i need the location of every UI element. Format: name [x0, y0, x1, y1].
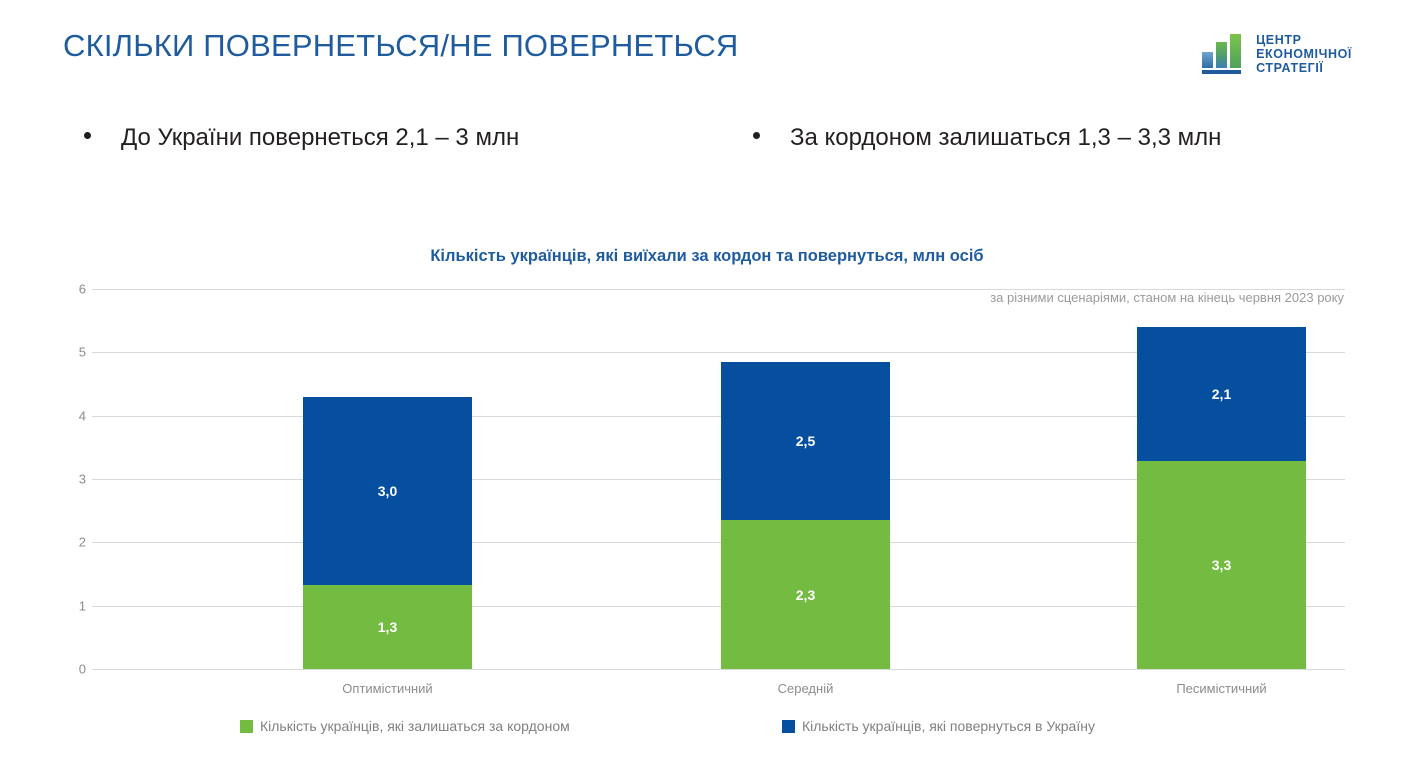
bullet-dot-icon	[753, 132, 760, 139]
bar-segment-staying-abroad[interactable]: 3,3	[1137, 461, 1306, 669]
bullet-text: До України повернеться 2,1 – 3 млн	[121, 124, 519, 152]
bar-segment-returning[interactable]: 2,1	[1137, 327, 1306, 461]
chart-subtitle: за різними сценаріями, станом на кінець …	[990, 290, 1344, 305]
bar-chart-logo-icon	[1201, 32, 1247, 76]
gridline	[92, 479, 1345, 480]
bar-segment-returning[interactable]: 2,5	[721, 362, 890, 520]
bullet-item-0: До України повернеться 2,1 – 3 млн	[84, 124, 519, 152]
chart-plot-area: 01234561,33,02,32,53,32,1	[92, 289, 1345, 669]
page-title: СКІЛЬКИ ПОВЕРНЕТЬСЯ/НЕ ПОВЕРНЕТЬСЯ	[63, 28, 739, 64]
bar-value-label: 1,3	[378, 619, 397, 635]
bar-segment-returning[interactable]: 3,0	[303, 397, 472, 585]
gridline	[92, 606, 1345, 607]
y-axis-tick-label: 4	[79, 408, 86, 423]
bar-group-2[interactable]: 3,32,1	[1137, 327, 1306, 669]
bar-value-label: 3,0	[378, 483, 397, 499]
gridline	[92, 352, 1345, 353]
y-axis-tick-label: 2	[79, 535, 86, 550]
y-axis-tick-label: 5	[79, 345, 86, 360]
chart-legend: Кількість українців, які залишаться за к…	[0, 718, 1414, 742]
legend-item-1[interactable]: Кількість українців, які повернуться в У…	[782, 718, 1095, 734]
bar-value-label: 3,3	[1212, 557, 1231, 573]
gridline	[92, 289, 1345, 290]
logo-line-3: СТРАТЕГІЇ	[1256, 61, 1352, 75]
legend-color-swatch	[240, 720, 253, 733]
legend-color-swatch	[782, 720, 795, 733]
bullet-list: До України повернеться 2,1 – 3 млнЗа кор…	[0, 124, 1414, 170]
bar-segment-staying-abroad[interactable]: 2,3	[721, 520, 890, 669]
gridline	[92, 669, 1345, 670]
chart-title: Кількість українців, які виїхали за корд…	[0, 247, 1414, 266]
y-axis-tick-label: 3	[79, 472, 86, 487]
legend-item-0[interactable]: Кількість українців, які залишаться за к…	[240, 718, 570, 734]
y-axis-tick-label: 0	[79, 662, 86, 677]
logo-line-2: ЕКОНОМІЧНОЇ	[1256, 47, 1352, 61]
bar-group-0[interactable]: 1,33,0	[303, 397, 472, 669]
stacked-bar-chart: Кількість українців, які виїхали за корд…	[0, 0, 1414, 776]
x-axis-category-label: Песимістичний	[1176, 681, 1266, 696]
bar-value-label: 2,5	[796, 433, 815, 449]
x-axis-category-label: Оптимістичний	[342, 681, 432, 696]
company-logo: ЦЕНТР ЕКОНОМІЧНОЇ СТРАТЕГІЇ	[1201, 32, 1352, 76]
bar-group-1[interactable]: 2,32,5	[721, 362, 890, 669]
y-axis-tick-label: 6	[79, 282, 86, 297]
legend-label: Кількість українців, які залишаться за к…	[260, 718, 570, 734]
bar-value-label: 2,1	[1212, 386, 1231, 402]
bullet-text: За кордоном залишаться 1,3 – 3,3 млн	[790, 124, 1221, 152]
x-axis-category-label: Середній	[778, 681, 834, 696]
gridline	[92, 542, 1345, 543]
logo-wordmark: ЦЕНТР ЕКОНОМІЧНОЇ СТРАТЕГІЇ	[1256, 33, 1352, 75]
bar-value-label: 2,3	[796, 587, 815, 603]
logo-line-1: ЦЕНТР	[1256, 33, 1352, 47]
bar-segment-staying-abroad[interactable]: 1,3	[303, 585, 472, 669]
legend-label: Кількість українців, які повернуться в У…	[802, 718, 1095, 734]
gridline	[92, 416, 1345, 417]
bullet-dot-icon	[84, 132, 91, 139]
y-axis-tick-label: 1	[79, 598, 86, 613]
bullet-item-1: За кордоном залишаться 1,3 – 3,3 млн	[753, 124, 1221, 152]
